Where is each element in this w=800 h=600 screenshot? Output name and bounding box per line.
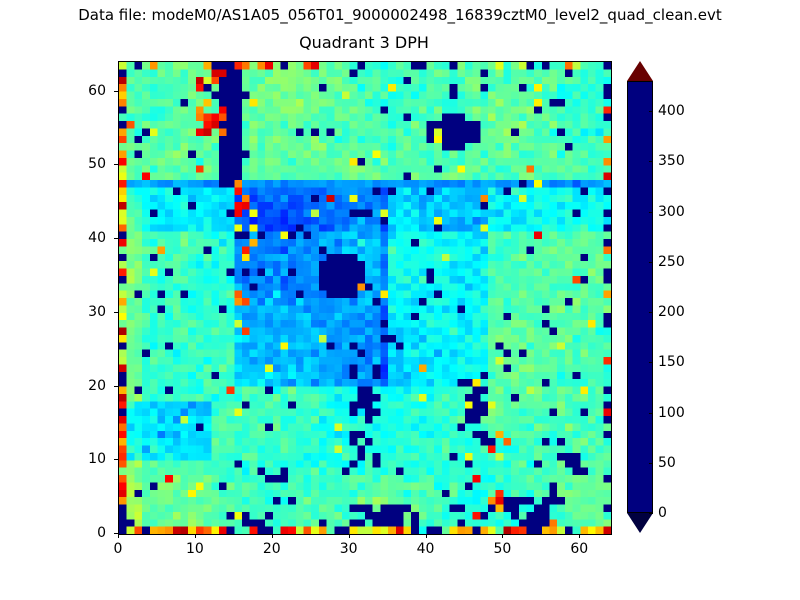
colorbar-under-arrow-icon (627, 513, 653, 533)
heatmap-axes[interactable] (118, 61, 612, 535)
colorbar-tick-label: 200 (658, 304, 685, 320)
x-tick-label: 0 (98, 541, 138, 557)
colorbar-tick-label: 50 (658, 455, 676, 471)
colorbar-tick-mark (649, 212, 653, 213)
y-tick-label: 20 (66, 378, 106, 394)
colorbar-tick-label: 350 (658, 153, 685, 169)
colorbar-tick-label: 0 (658, 505, 667, 521)
colorbar-tick-mark (649, 312, 653, 313)
x-tick-mark (118, 534, 119, 538)
figure-canvas: Data file: modeM0/AS1A05_056T01_90000024… (0, 0, 800, 600)
x-tick-label: 10 (175, 541, 215, 557)
colorbar-tick-mark (649, 513, 653, 514)
page-title: Quadrant 3 DPH (118, 33, 610, 53)
colorbar-tick-label: 400 (658, 103, 685, 119)
colorbar-tick-mark (649, 413, 653, 414)
colorbar-tick-mark (649, 111, 653, 112)
y-tick-label: 40 (66, 230, 106, 246)
colorbar-tick-mark (649, 262, 653, 263)
x-tick-mark (502, 534, 503, 538)
x-tick-label: 30 (329, 541, 369, 557)
x-tick-mark (426, 534, 427, 538)
colorbar-gradient (628, 82, 652, 512)
y-tick-mark (114, 386, 118, 387)
y-tick-mark (114, 238, 118, 239)
data-file-title: Data file: modeM0/AS1A05_056T01_90000024… (0, 6, 800, 24)
colorbar-tick-mark (649, 463, 653, 464)
colorbar-tick-label: 100 (658, 405, 685, 421)
y-tick-label: 10 (66, 451, 106, 467)
y-tick-mark (114, 533, 118, 534)
y-tick-label: 0 (66, 525, 106, 541)
x-tick-mark (349, 534, 350, 538)
y-tick-mark (114, 164, 118, 165)
x-tick-label: 50 (482, 541, 522, 557)
x-tick-mark (195, 534, 196, 538)
y-tick-mark (114, 91, 118, 92)
heatmap-image[interactable] (119, 62, 611, 534)
colorbar-tick-mark (649, 362, 653, 363)
y-tick-mark (114, 459, 118, 460)
colorbar[interactable]: 050100150200250300350400 (627, 61, 653, 533)
x-tick-label: 20 (252, 541, 292, 557)
colorbar-over-arrow-icon (627, 61, 653, 81)
y-tick-mark (114, 312, 118, 313)
y-tick-label: 30 (66, 304, 106, 320)
x-tick-label: 40 (406, 541, 446, 557)
x-tick-mark (579, 534, 580, 538)
colorbar-tick-label: 150 (658, 354, 685, 370)
y-tick-label: 50 (66, 156, 106, 172)
x-tick-label: 60 (559, 541, 599, 557)
colorbar-tick-mark (649, 161, 653, 162)
y-tick-label: 60 (66, 83, 106, 99)
x-tick-mark (272, 534, 273, 538)
colorbar-tick-label: 300 (658, 204, 685, 220)
colorbar-body[interactable] (627, 81, 653, 513)
colorbar-tick-label: 250 (658, 254, 685, 270)
